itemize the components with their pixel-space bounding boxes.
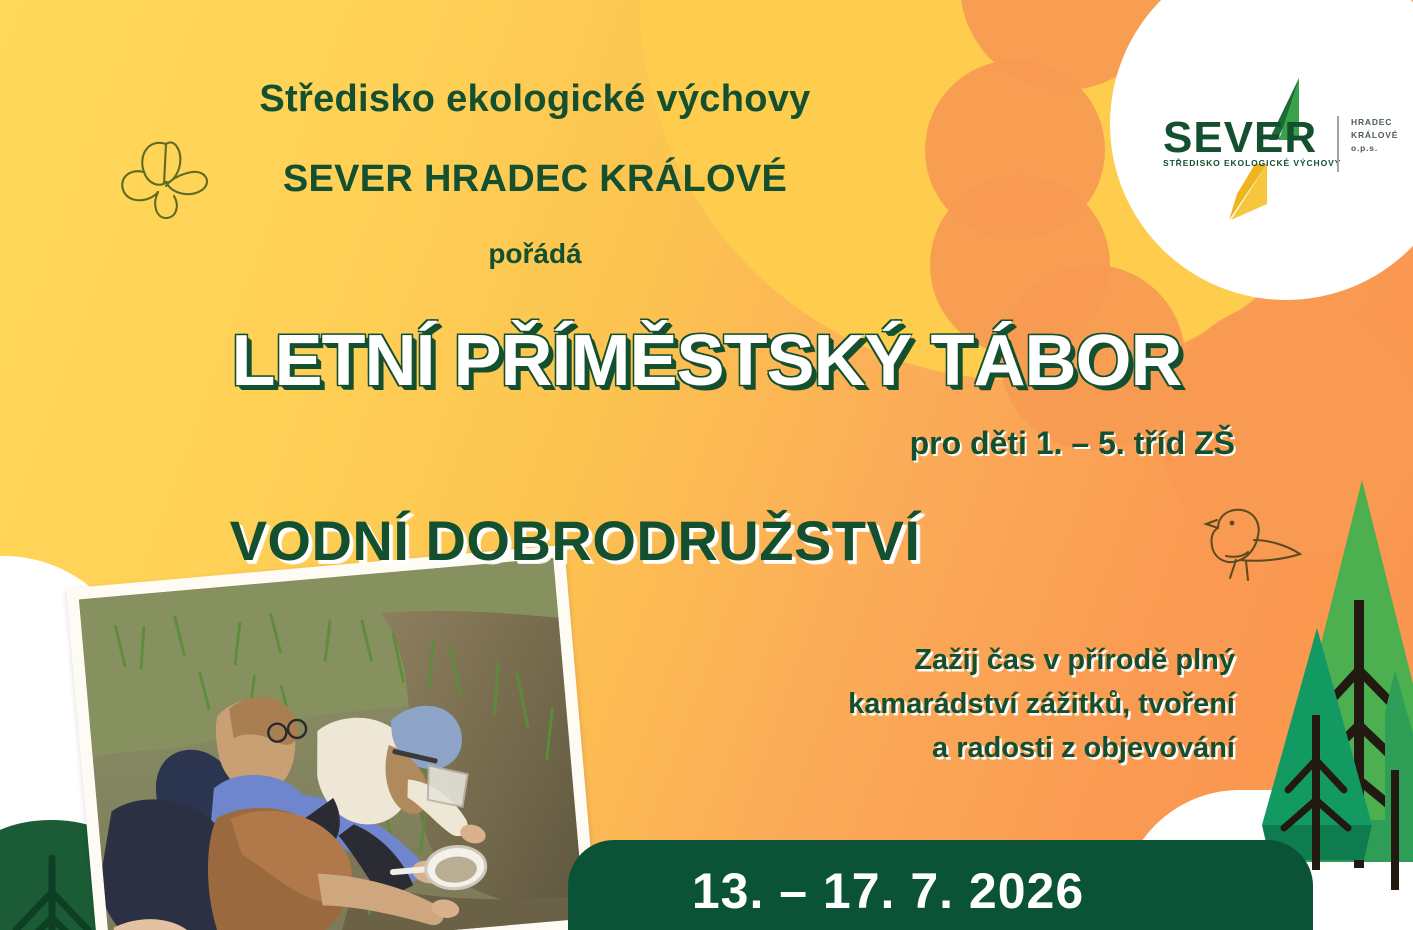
tagline-line-3: a radosti z objevování [0, 726, 1235, 770]
organizer-line-2: SEVER HRADEC KRÁLOVÉ [0, 158, 1070, 201]
logo-branch-line-3: o.p.s. [1351, 142, 1398, 155]
date-banner: 13. – 17. 7. 2026 [568, 840, 1313, 930]
logo-wordmark: SEVER [1163, 116, 1317, 160]
camp-date: 13. – 17. 7. 2026 [568, 862, 1208, 920]
conifer-tree-medium [1262, 620, 1392, 880]
organizer-action: pořádá [0, 238, 1070, 270]
age-range-subtitle: pro děti 1. – 5. tříd ZŠ [0, 425, 1235, 462]
page-title: LETNÍ PŘÍMĚSTSKÝ TÁBOR [0, 320, 1413, 402]
tagline-block: Zažij čas v přírodě plný kamarádství záž… [0, 638, 1235, 770]
tagline-line-2: kamarádství zážitků, tvoření [0, 682, 1235, 726]
conifer-tree-small [1385, 660, 1413, 890]
logo-subline: STŘEDISKO EKOLOGICKÉ VÝCHOVY [1163, 158, 1341, 168]
theme-title: VODNÍ DOBRODRUŽSTVÍ [0, 508, 1150, 573]
poster-canvas: Středisko ekologické výchovy SEVER HRADE… [0, 0, 1413, 930]
logo-branch-line-1: HRADEC [1351, 116, 1398, 129]
organizer-line-1: Středisko ekologické výchovy [0, 78, 1070, 121]
tagline-line-1: Zažij čas v přírodě plný [0, 638, 1235, 682]
logo-arrow-down-icon [1225, 164, 1271, 222]
logo-divider [1337, 116, 1339, 172]
sever-logo[interactable]: SEVER STŘEDISKO EKOLOGICKÉ VÝCHOVY HRADE… [1155, 72, 1390, 202]
logo-branch: HRADEC KRÁLOVÉ o.p.s. [1351, 116, 1398, 156]
logo-branch-line-2: KRÁLOVÉ [1351, 129, 1398, 142]
